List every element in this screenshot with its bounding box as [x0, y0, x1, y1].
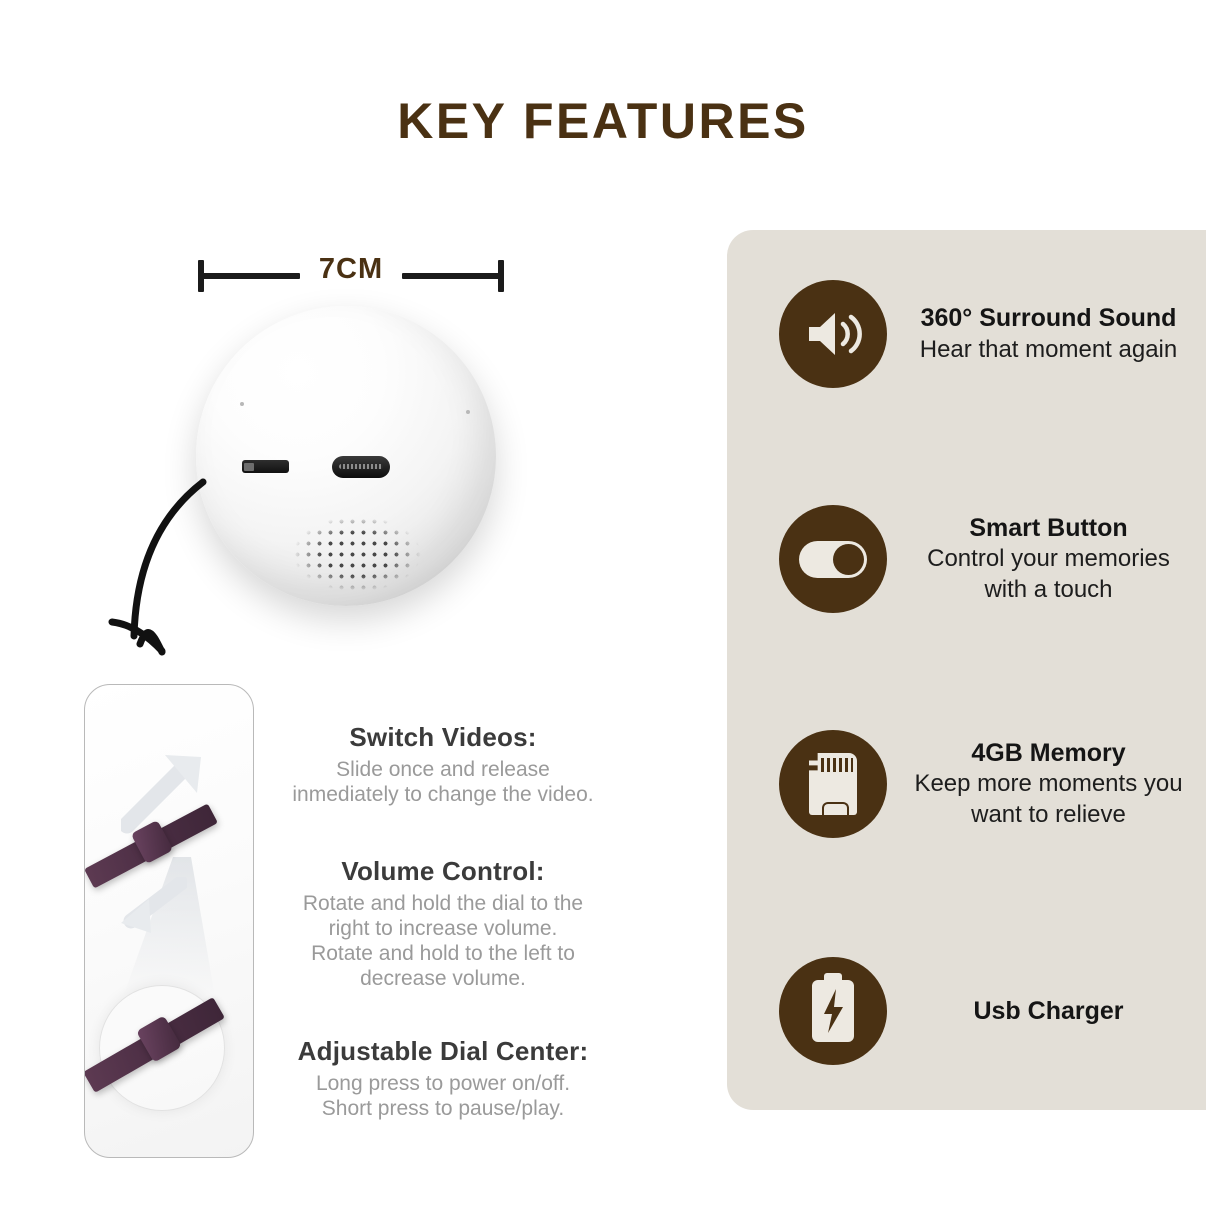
- instruction-title: Switch Videos:: [263, 722, 623, 753]
- instruction-block-volume-control: Volume Control: Rotate and hold the dial…: [263, 856, 623, 992]
- feature-subtitle-line: with a touch: [901, 576, 1196, 605]
- dial-photo-card: [84, 684, 254, 1158]
- instruction-line: Long press to power on/off.: [263, 1072, 623, 1097]
- feature-title: 360° Surround Sound: [901, 303, 1196, 334]
- instruction-title: Adjustable Dial Center:: [263, 1036, 623, 1067]
- sd-card-pins: [821, 758, 853, 772]
- feature-text: 360° Surround Sound Hear that moment aga…: [887, 303, 1206, 364]
- sd-card-icon: [779, 730, 887, 838]
- pinhole-microphone-icon: [240, 402, 244, 406]
- feature-title: Smart Button: [901, 513, 1196, 544]
- feature-item-surround-sound[interactable]: 360° Surround Sound Hear that moment aga…: [727, 280, 1206, 388]
- feature-item-usb-charger[interactable]: Usb Charger: [727, 957, 1206, 1065]
- instruction-line: right to increase volume.: [263, 917, 623, 942]
- dimension-label: 7CM: [196, 253, 506, 286]
- feature-subtitle-line: Keep more moments you: [901, 770, 1196, 799]
- dimension-indicator: 7CM: [196, 255, 506, 289]
- instruction-line: decrease volume.: [263, 967, 623, 992]
- instruction-body: Long press to power on/off. Short press …: [263, 1072, 623, 1122]
- instruction-line: Short press to pause/play.: [263, 1097, 623, 1122]
- sd-card-body: [809, 753, 857, 815]
- pinhole-microphone-icon: [466, 410, 470, 414]
- instruction-line: Slide once and release: [263, 758, 623, 783]
- battery-body: [812, 980, 854, 1042]
- instruction-title: Volume Control:: [263, 856, 623, 887]
- usb-c-port-icon: [332, 456, 390, 478]
- instruction-line: Rotate and hold the dial to the: [263, 892, 623, 917]
- instruction-body: Slide once and release inmediately to ch…: [263, 758, 623, 808]
- feature-subtitle-line: want to relieve: [901, 801, 1196, 830]
- instruction-block-switch-videos: Switch Videos: Slide once and release in…: [263, 722, 623, 808]
- down-arrow-ghost-icon: [111, 877, 187, 941]
- feature-subtitle-line: Hear that moment again: [901, 336, 1196, 365]
- instruction-body: Rotate and hold the dial to the right to…: [263, 892, 623, 992]
- sd-card-tab: [822, 802, 849, 815]
- feature-title: 4GB Memory: [901, 738, 1196, 769]
- instruction-line: Rotate and hold to the left to: [263, 942, 623, 967]
- toggle-pill: [799, 541, 867, 578]
- toggle-switch-icon: [779, 505, 887, 613]
- feature-title: Usb Charger: [901, 996, 1196, 1027]
- features-panel: 360° Surround Sound Hear that moment aga…: [727, 230, 1206, 1110]
- feature-text: Smart Button Control your memories with …: [887, 513, 1206, 605]
- speaker-volume-icon: [779, 280, 887, 388]
- dimension-cap-right: [498, 260, 504, 292]
- instruction-block-adjustable-dial-center: Adjustable Dial Center: Long press to po…: [263, 1036, 623, 1122]
- instruction-line: inmediately to change the video.: [263, 783, 623, 808]
- feature-item-smart-button[interactable]: Smart Button Control your memories with …: [727, 505, 1206, 613]
- feature-item-memory[interactable]: 4GB Memory Keep more moments you want to…: [727, 730, 1206, 838]
- feature-text: 4GB Memory Keep more moments you want to…: [887, 738, 1206, 830]
- dimension-line-right: [402, 273, 500, 279]
- page-title: KEY FEATURES: [0, 92, 1206, 150]
- feature-subtitle-line: Control your memories: [901, 545, 1196, 574]
- battery-charging-icon: [779, 957, 887, 1065]
- feature-text: Usb Charger: [887, 996, 1206, 1027]
- curved-arrow-icon: [100, 468, 330, 673]
